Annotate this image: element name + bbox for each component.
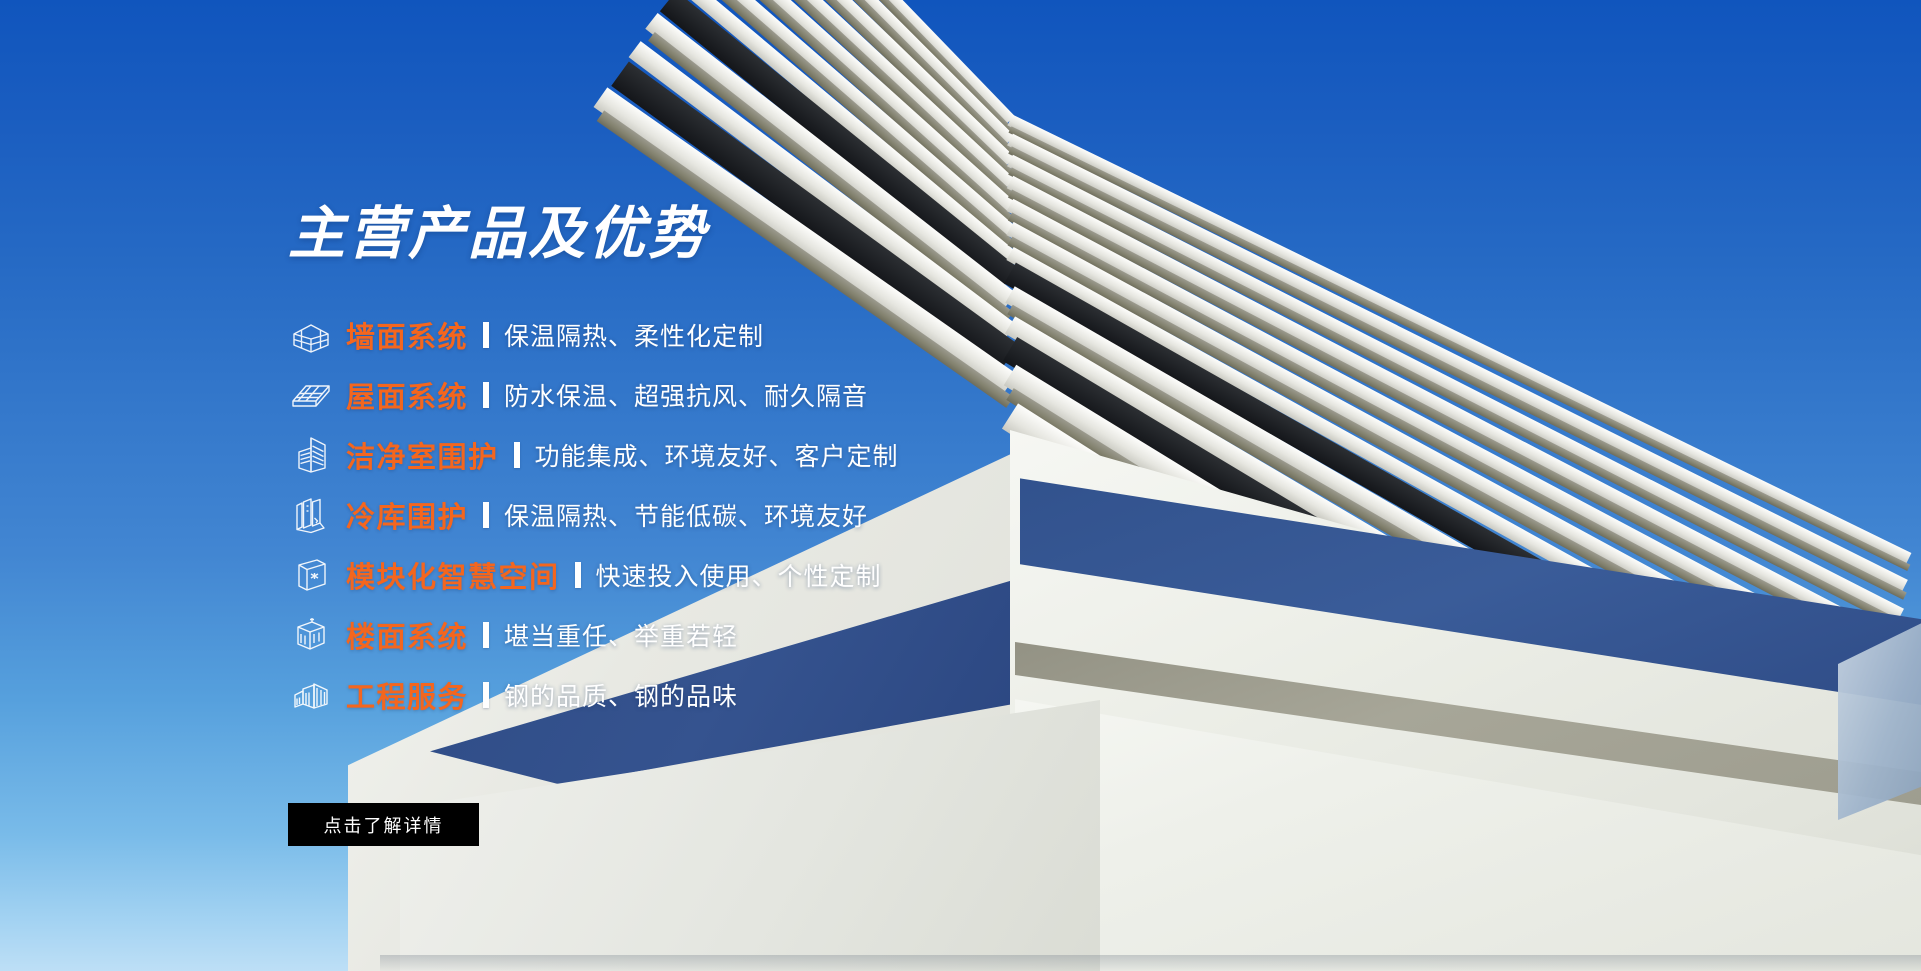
list-item[interactable]: 楼面系统 堪当重任、举重若轻 (288, 605, 988, 665)
product-description: 堪当重任、举重若轻 (504, 617, 738, 653)
learn-more-button[interactable]: 点击了解详情 (288, 803, 479, 846)
separator-bar (483, 622, 489, 648)
product-description: 防水保温、超强抗风、耐久隔音 (504, 377, 868, 413)
modular-cube-icon (288, 552, 334, 598)
product-name: 洁净室围护 (346, 434, 499, 476)
product-name: 工程服务 (346, 674, 468, 716)
wall-frame-icon (288, 312, 334, 358)
separator-bar (483, 382, 489, 408)
product-name: 墙面系统 (346, 314, 468, 356)
hero-content: 主营产品及优势 墙面系统 保温隔热、柔性化定制 (0, 0, 900, 971)
product-list: 墙面系统 保温隔热、柔性化定制 屋面系统 (288, 305, 988, 725)
list-item[interactable]: 模块化智慧空间 快速投入使用、个性定制 (288, 545, 988, 605)
separator-bar (483, 322, 489, 348)
factory-complex-icon (288, 672, 334, 718)
separator-bar (483, 682, 489, 708)
separator-bar (483, 502, 489, 528)
separator-bar (514, 442, 520, 468)
product-description: 保温隔热、节能低碳、环境友好 (504, 497, 868, 533)
product-description: 钢的品质、钢的品味 (504, 677, 738, 713)
hero-banner: 主营产品及优势 墙面系统 保温隔热、柔性化定制 (0, 0, 1921, 971)
cold-storage-icon (288, 492, 334, 538)
product-name: 冷库围护 (346, 494, 468, 536)
product-description: 保温隔热、柔性化定制 (504, 317, 764, 353)
list-item[interactable]: 墙面系统 保温隔热、柔性化定制 (288, 305, 988, 365)
product-description: 功能集成、环境友好、客户定制 (535, 437, 899, 473)
product-name: 楼面系统 (346, 614, 468, 656)
page-title: 主营产品及优势 (288, 203, 708, 265)
list-item[interactable]: 冷库围护 保温隔热、节能低碳、环境友好 (288, 485, 988, 545)
list-item[interactable]: 工程服务 钢的品质、钢的品味 (288, 665, 988, 725)
product-name: 屋面系统 (346, 374, 468, 416)
list-item[interactable]: 洁净室围护 功能集成、环境友好、客户定制 (288, 425, 988, 485)
list-item[interactable]: 屋面系统 防水保温、超强抗风、耐久隔音 (288, 365, 988, 425)
product-description: 快速投入使用、个性定制 (596, 557, 882, 593)
roof-panel-icon (288, 372, 334, 418)
cleanroom-building-icon (288, 432, 334, 478)
product-name: 模块化智慧空间 (346, 554, 560, 596)
floor-deck-icon (288, 612, 334, 658)
separator-bar (575, 562, 581, 588)
